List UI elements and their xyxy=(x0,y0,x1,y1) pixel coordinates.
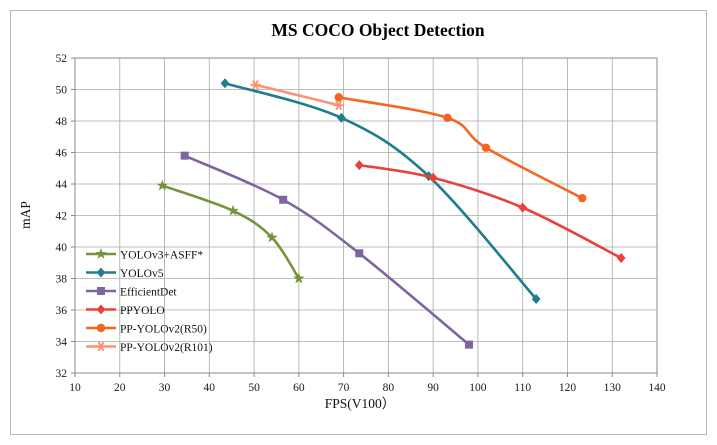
series-yolov3-asff xyxy=(157,180,305,284)
series-line xyxy=(162,186,299,279)
chart-figure: 1020304050607080901001101201301403234363… xyxy=(0,0,717,445)
data-point-marker-asterisk xyxy=(334,101,344,110)
y-tick-label: 50 xyxy=(56,85,68,97)
data-point-marker-circle xyxy=(334,93,342,101)
data-point-marker-square xyxy=(97,287,105,295)
x-tick-label: 80 xyxy=(383,382,395,394)
data-point-marker-square xyxy=(279,196,287,204)
data-point-marker-diamond xyxy=(518,203,527,213)
x-tick-label: 130 xyxy=(604,382,622,394)
x-tick-label: 40 xyxy=(204,382,216,394)
data-point-marker-asterisk xyxy=(250,80,260,89)
data-series xyxy=(157,78,626,348)
data-point-marker-asterisk xyxy=(96,342,106,351)
chart-legend[interactable]: YOLOv3+ASFF*YOLOv5EfficientDetPPYOLOPP-Y… xyxy=(86,248,213,354)
x-tick-label: 30 xyxy=(159,382,171,394)
data-point-marker-star xyxy=(157,180,168,191)
x-axis-label: FPS(V100） xyxy=(325,396,396,411)
series-efficientdet xyxy=(181,152,473,349)
legend-label: YOLOv3+ASFF* xyxy=(120,250,203,262)
ms-coco-object-detection-chart: 1020304050607080901001101201301403234363… xyxy=(0,0,717,445)
legend-label: PPYOLO xyxy=(120,305,165,317)
data-point-marker-star xyxy=(95,248,106,259)
series-pp-yolov2-r101 xyxy=(250,80,343,109)
legend-item-pp-yolov2-r101[interactable]: PP-YOLOv2(R101) xyxy=(86,342,213,354)
y-tick-label: 42 xyxy=(56,211,68,223)
legend-item-yolov3-asff[interactable]: YOLOv3+ASFF* xyxy=(86,248,203,262)
x-tick-label: 140 xyxy=(648,382,666,394)
x-tick-label: 20 xyxy=(114,382,126,394)
legend-label: PP-YOLOv2(R50) xyxy=(120,324,207,336)
y-tick-label: 34 xyxy=(56,337,68,349)
legend-label: YOLOv5 xyxy=(120,268,164,280)
data-point-marker-diamond xyxy=(355,160,364,170)
x-tick-label: 60 xyxy=(293,382,305,394)
x-tick-label: 110 xyxy=(514,382,531,394)
legend-item-pp-yolov2-r50[interactable]: PP-YOLOv2(R50) xyxy=(86,324,207,336)
y-tick-label: 46 xyxy=(56,148,68,160)
y-tick-label: 44 xyxy=(56,179,68,191)
x-tick-label: 10 xyxy=(69,382,81,394)
data-point-marker-diamond xyxy=(221,78,230,88)
y-tick-label: 48 xyxy=(56,116,68,128)
data-point-marker-diamond xyxy=(617,253,626,263)
data-point-marker-circle xyxy=(443,114,451,122)
y-tick-label: 36 xyxy=(56,305,68,317)
legend-item-efficientdet[interactable]: EfficientDet xyxy=(86,287,177,299)
y-tick-label: 38 xyxy=(56,274,68,286)
x-tick-label: 50 xyxy=(248,382,260,394)
series-ppyolo xyxy=(355,160,626,263)
data-point-marker-square xyxy=(465,341,473,349)
x-tick-label: 120 xyxy=(559,382,577,394)
y-tick-label: 52 xyxy=(56,53,68,65)
data-point-marker-square xyxy=(355,249,363,257)
chart-title: MS COCO Object Detection xyxy=(271,20,485,40)
series-line xyxy=(225,83,536,299)
legend-label: EfficientDet xyxy=(120,287,177,299)
series-line xyxy=(339,97,583,198)
data-point-marker-diamond xyxy=(97,268,106,278)
y-tick-label: 32 xyxy=(56,368,68,380)
legend-label: PP-YOLOv2(R101) xyxy=(120,342,213,354)
data-point-marker-diamond xyxy=(97,305,106,315)
x-tick-label: 100 xyxy=(469,382,487,394)
data-point-marker-square xyxy=(181,152,189,160)
y-tick-label: 40 xyxy=(56,242,68,254)
legend-item-ppyolo[interactable]: PPYOLO xyxy=(86,305,165,318)
x-tick-label: 70 xyxy=(338,382,350,394)
data-point-marker-circle xyxy=(97,324,105,332)
y-axis-label: mAP xyxy=(18,201,33,229)
x-tick-label: 90 xyxy=(427,382,439,394)
data-point-marker-circle xyxy=(482,144,490,152)
data-point-marker-circle xyxy=(578,194,586,202)
